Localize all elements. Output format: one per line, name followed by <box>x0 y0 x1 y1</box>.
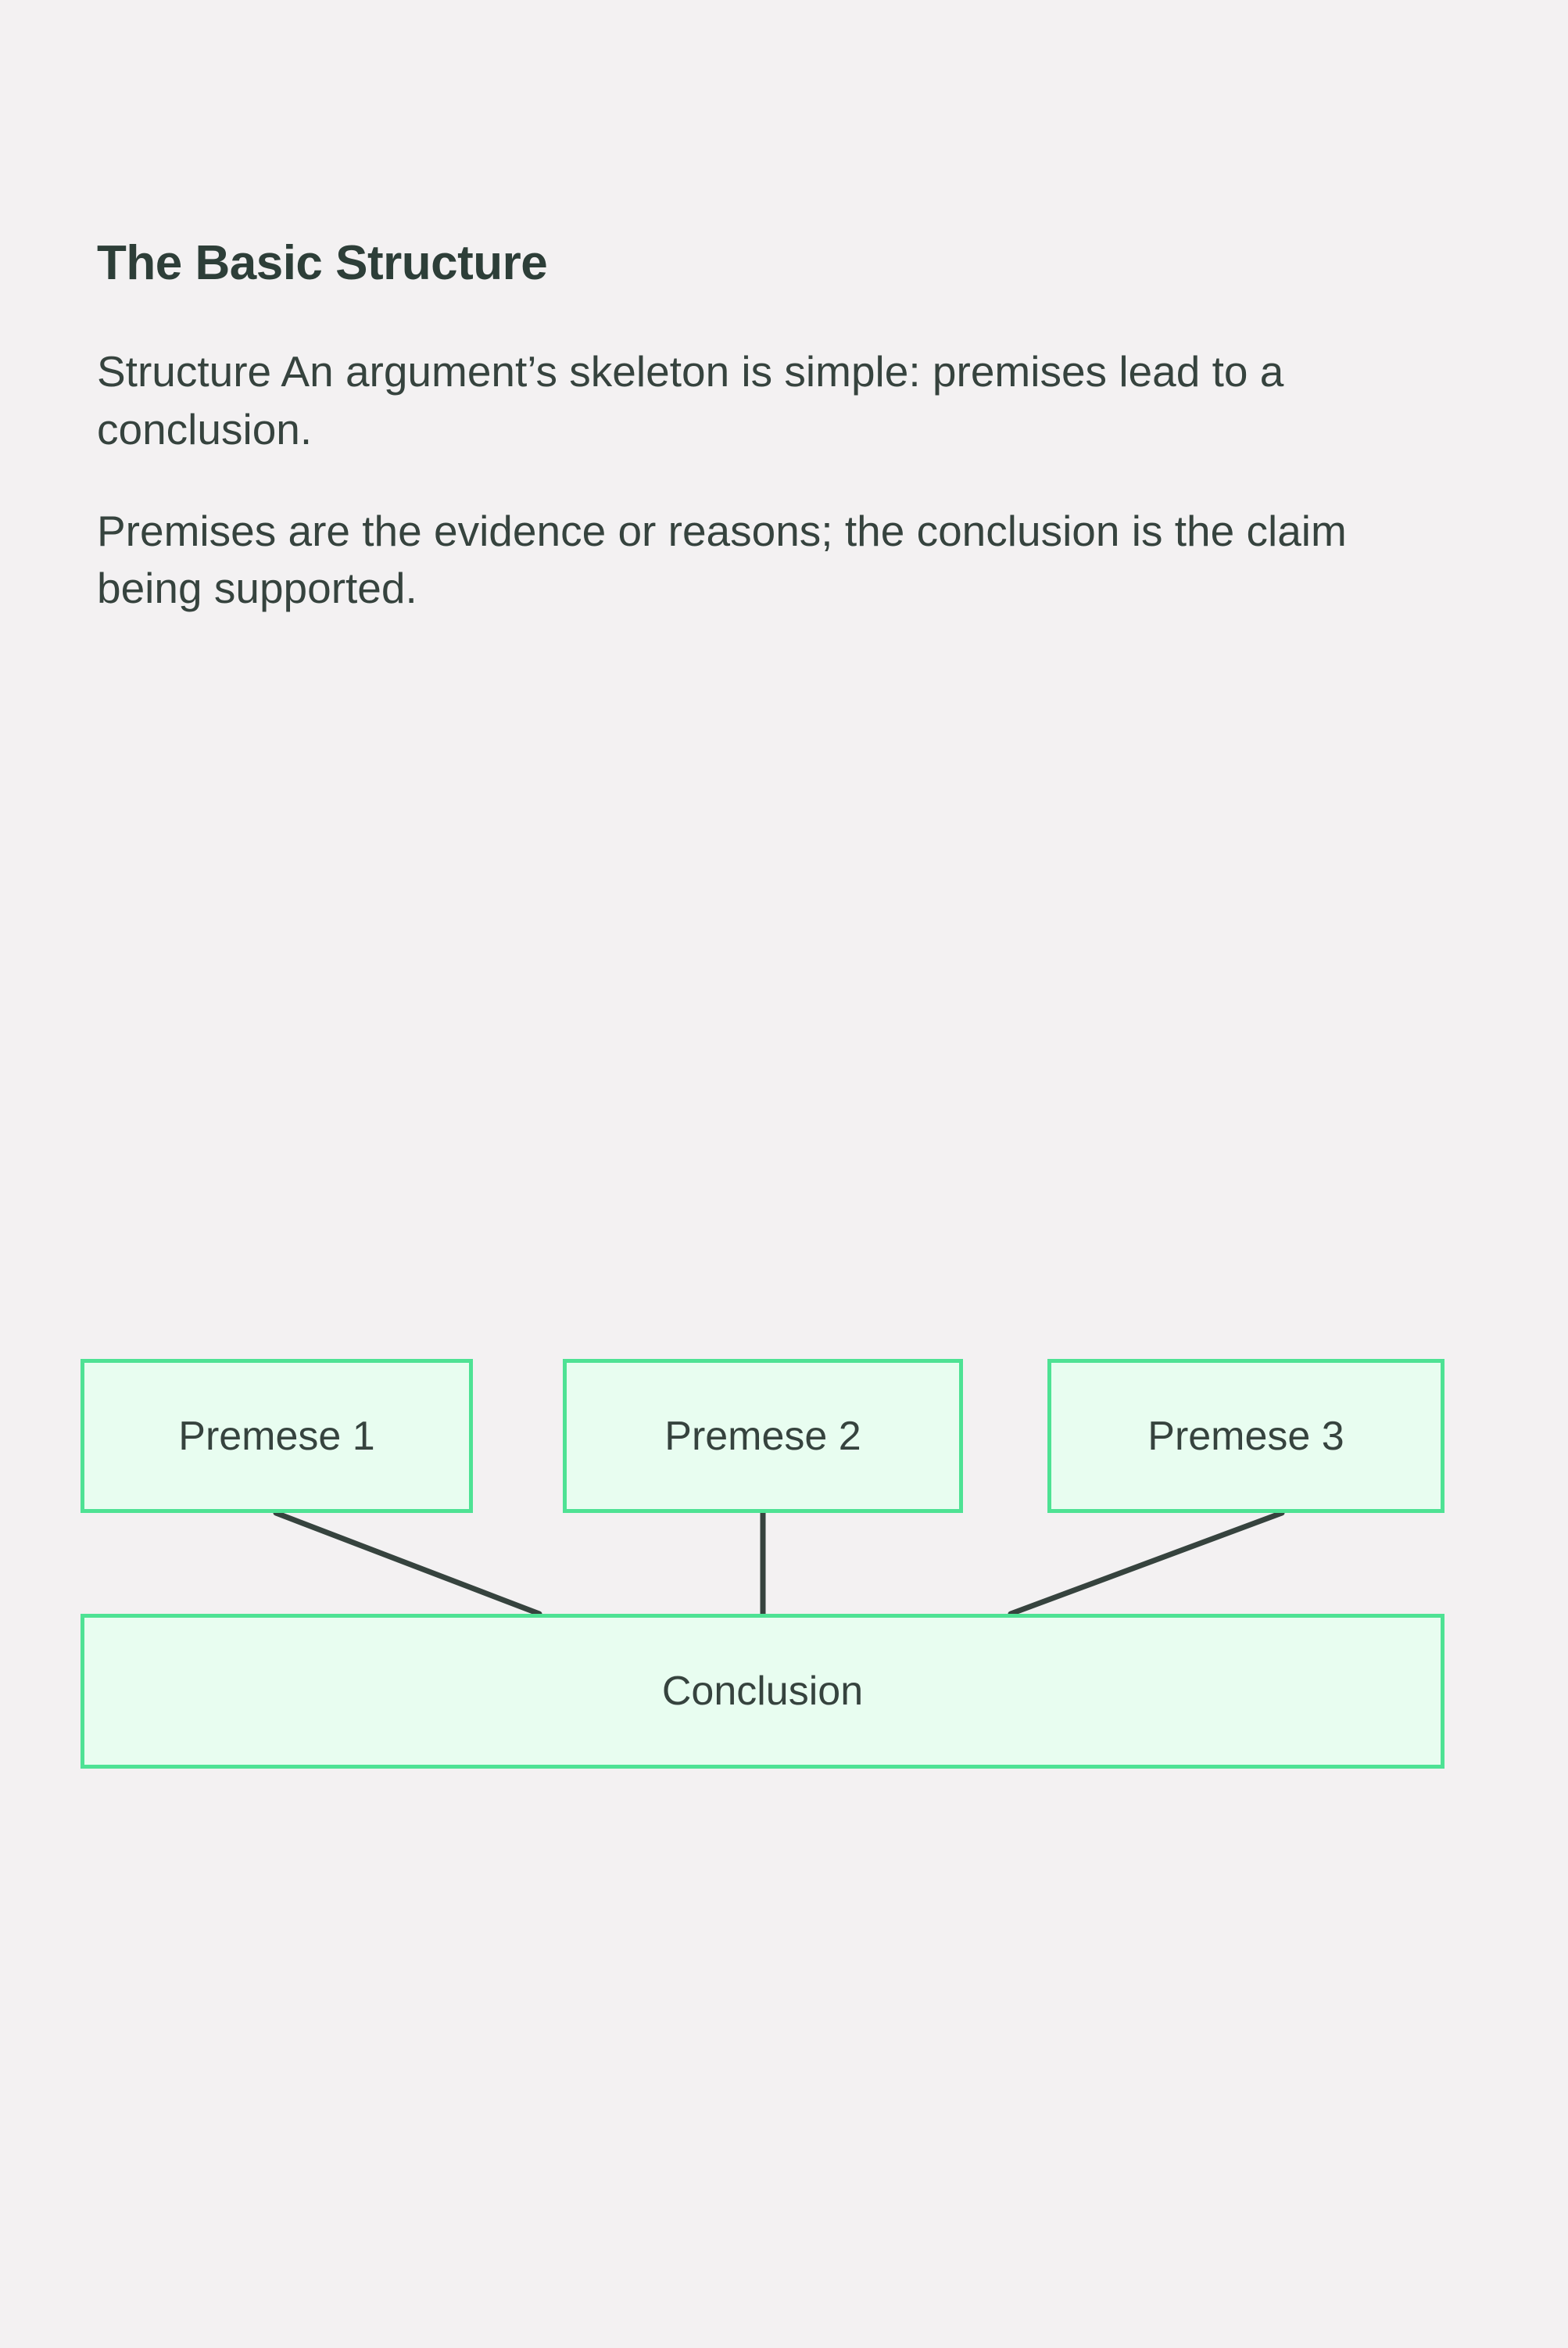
conclusion-node-label: Conclusion <box>662 1671 863 1712</box>
premise-node-2[interactable]: Premese 2 <box>563 1359 963 1513</box>
premise-node-1[interactable]: Premese 1 <box>81 1359 473 1513</box>
premise-node-2-label: Premese 2 <box>664 1416 861 1457</box>
conclusion-node[interactable]: Conclusion <box>81 1614 1444 1769</box>
premise-node-1-label: Premese 1 <box>178 1416 374 1457</box>
connector-premise-1-to-conclusion <box>276 1513 539 1614</box>
body-paragraph-2: Premises are the evidence or reasons; th… <box>97 503 1410 618</box>
body-paragraph-1: Structure An argument’s skeleton is simp… <box>97 343 1410 458</box>
page-title: The Basic Structure <box>97 235 1426 292</box>
body-paragraphs: Structure An argument’s skeleton is simp… <box>97 343 1426 618</box>
slide-canvas: The Basic Structure Structure An argumen… <box>0 0 1568 2348</box>
connector-premise-3-to-conclusion <box>1011 1513 1282 1614</box>
text-content-block: The Basic Structure Structure An argumen… <box>97 235 1426 618</box>
premise-node-3-label: Premese 3 <box>1147 1416 1344 1457</box>
premise-node-3[interactable]: Premese 3 <box>1047 1359 1444 1513</box>
